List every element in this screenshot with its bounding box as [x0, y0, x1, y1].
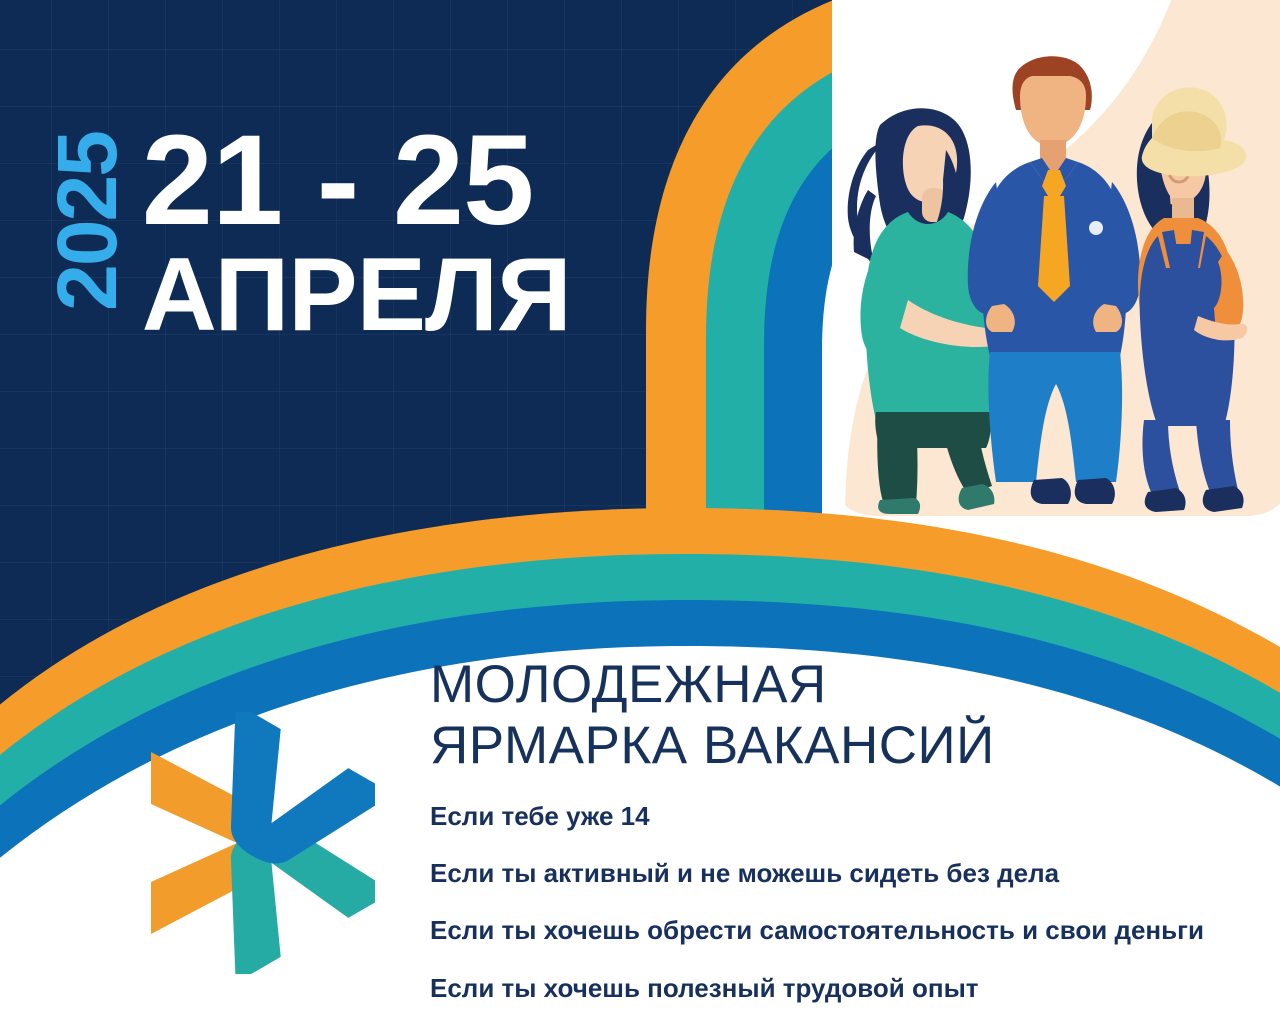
bullet-item: Если ты активный и не можешь сидеть без … [430, 858, 1270, 889]
date-range: 21 - 25 [142, 118, 571, 243]
bullet-item: Если ты хочешь полезный трудовой опыт [430, 973, 1270, 1004]
event-title-line-1: МОЛОДЕЖНАЯ [430, 654, 1270, 715]
bullet-item: Если ты хочешь обрести самостоятельность… [430, 915, 1270, 946]
date-month: АПРЕЛЯ [142, 245, 571, 347]
youth-job-fair-logo-icon [145, 712, 375, 974]
bullet-item: Если тебе уже 14 [430, 801, 1270, 832]
illustration-panel [820, 0, 1280, 530]
date-lines: 21 - 25 АПРЕЛЯ [142, 118, 571, 347]
poster-canvas: 2025 21 - 25 АПРЕЛЯ МОЛОДЕЖНАЯ ЯРМАРКА В… [0, 0, 1280, 1036]
text-column: МОЛОДЕЖНАЯ ЯРМАРКА ВАКАНСИЙ Если тебе уж… [430, 654, 1270, 1004]
event-title-line-2: ЯРМАРКА ВАКАНСИЙ [430, 715, 1270, 776]
bottom-content: МОЛОДЕЖНАЯ ЯРМАРКА ВАКАНСИЙ Если тебе уж… [0, 640, 1280, 1036]
date-block: 2025 21 - 25 АПРЕЛЯ [48, 118, 571, 347]
year-label: 2025 [48, 132, 128, 311]
bullet-list: Если тебе уже 14 Если ты активный и не м… [430, 801, 1270, 1004]
